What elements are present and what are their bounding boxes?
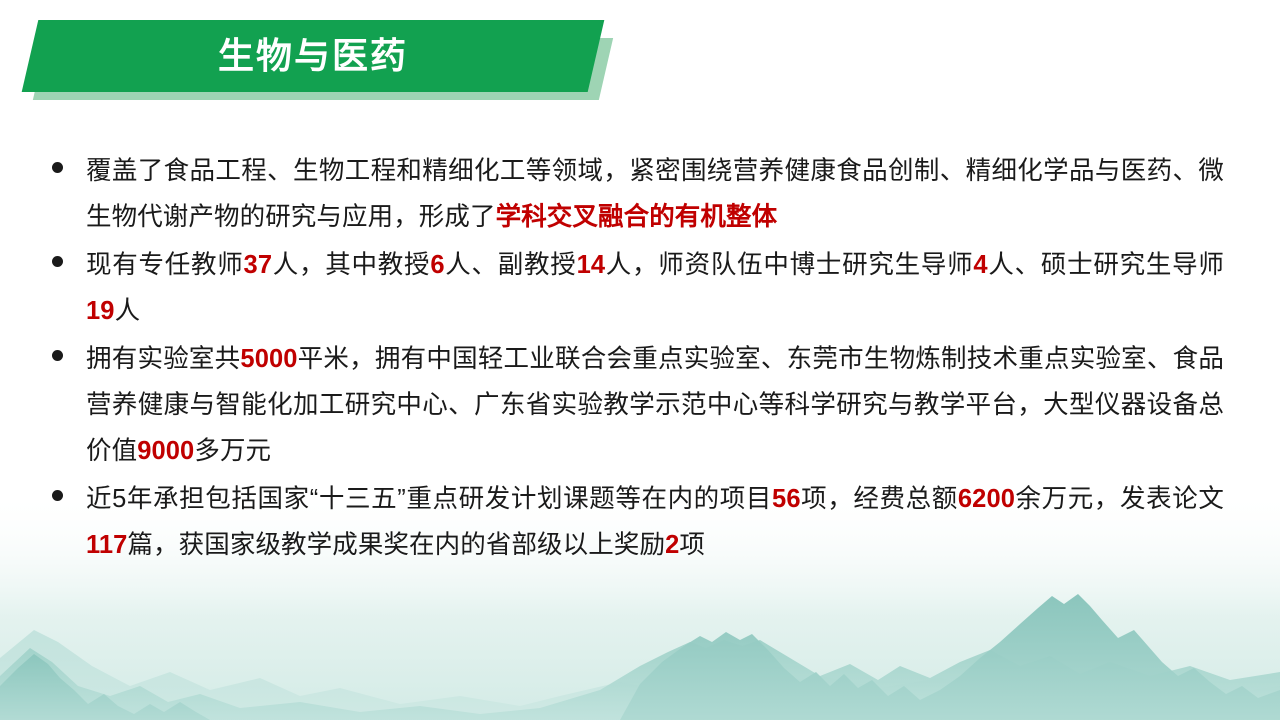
bullet-list: 覆盖了食品工程、生物工程和精细化工等领域，紧密围绕营养健康食品创制、精细化学品与… (0, 148, 1280, 570)
highlighted-text: 9000 (137, 437, 194, 465)
page-title: 生物与医药 (30, 20, 596, 92)
highlighted-text: 117 (86, 531, 127, 559)
highlighted-text: 5000 (240, 345, 297, 373)
list-item: 拥有实验室共5000平米，拥有中国轻工业联合会重点实验室、东莞市生物炼制技术重点… (52, 336, 1224, 474)
left-peak (0, 654, 210, 720)
highlighted-text: 6 (430, 251, 444, 279)
bullet-point-icon (52, 336, 86, 361)
bullet-point-icon (52, 242, 86, 267)
highlighted-text: 14 (577, 251, 606, 279)
highlighted-text: 学科交叉融合的有机整体 (496, 203, 778, 231)
mid-ridge (0, 640, 1280, 720)
body-text: 余万元，发表论文 (1015, 485, 1224, 513)
body-text: 项 (679, 531, 705, 559)
list-item: 近5年承担包括国家“十三五”重点研发计划课题等在内的项目56项，经费总额6200… (52, 476, 1224, 568)
body-text: 人、副教授 (445, 251, 577, 279)
bullet-text: 近5年承担包括国家“十三五”重点研发计划课题等在内的项目56项，经费总额6200… (86, 476, 1224, 568)
body-text: 项，经费总额 (801, 485, 958, 513)
bullet-text: 现有专任教师37人，其中教授6人、副教授14人，师资队伍中博士研究生导师4人、硕… (86, 242, 1224, 334)
body-text: 人 (115, 297, 141, 325)
far-ridge (0, 630, 1280, 720)
body-text: 人，师资队伍中博士研究生导师 (605, 251, 973, 279)
title-banner: 生物与医药 (0, 0, 620, 120)
bullet-point-icon (52, 476, 86, 501)
highlighted-text: 19 (86, 297, 115, 325)
body-text: 人，其中教授 (272, 251, 430, 279)
body-text: 篇，获国家级教学成果奖在内的省部级以上奖励 (127, 531, 665, 559)
near-ridge (620, 594, 1280, 720)
body-text: 拥有实验室共 (86, 345, 240, 373)
highlighted-text: 56 (772, 485, 801, 513)
list-item: 现有专任教师37人，其中教授6人、副教授14人，师资队伍中博士研究生导师4人、硕… (52, 242, 1224, 334)
slide-canvas: 生物与医药 覆盖了食品工程、生物工程和精细化工等领域，紧密围绕营养健康食品创制、… (0, 0, 1280, 720)
bullet-text: 拥有实验室共5000平米，拥有中国轻工业联合会重点实验室、东莞市生物炼制技术重点… (86, 336, 1224, 474)
highlighted-text: 6200 (958, 485, 1015, 513)
bullet-point-icon (52, 148, 86, 173)
bullet-text: 覆盖了食品工程、生物工程和精细化工等领域，紧密围绕营养健康食品创制、精细化学品与… (86, 148, 1224, 240)
body-text: 现有专任教师 (86, 251, 244, 279)
highlighted-text: 37 (244, 251, 273, 279)
highlighted-text: 2 (665, 531, 679, 559)
body-text: 人、硕士研究生导师 (988, 251, 1224, 279)
highlighted-text: 4 (973, 251, 987, 279)
body-text: 近5年承担包括国家“十三五”重点研发计划课题等在内的项目 (86, 485, 772, 513)
body-text: 多万元 (194, 437, 271, 465)
list-item: 覆盖了食品工程、生物工程和精细化工等领域，紧密围绕营养健康食品创制、精细化学品与… (52, 148, 1224, 240)
